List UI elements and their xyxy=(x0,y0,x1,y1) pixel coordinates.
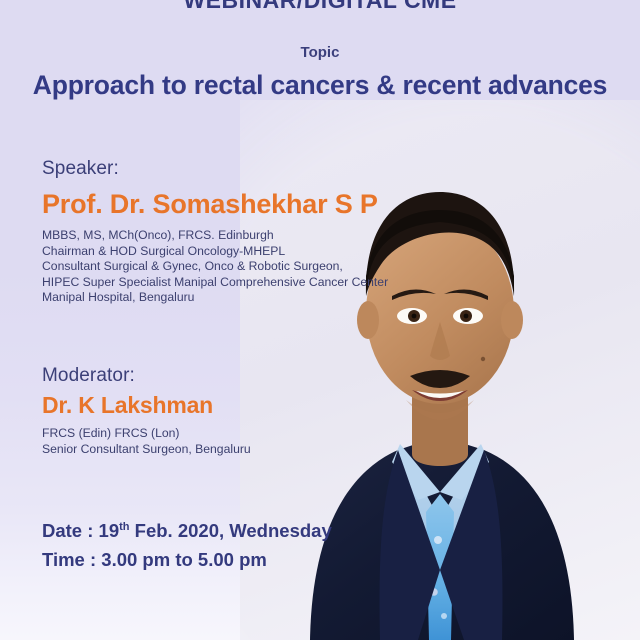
date-suffix: Feb. 2020, Wednesday xyxy=(130,520,332,541)
credential-line: MBBS, MS, MCh(Onco), FRCS. Edinburgh xyxy=(42,228,388,244)
date-ordinal-suffix: th xyxy=(119,521,129,533)
speaker-role-label: Speaker: xyxy=(42,158,388,180)
credential-line: Manipal Hospital, Bengaluru xyxy=(42,290,388,306)
event-date: Date : 19th Feb. 2020, Wednesday xyxy=(42,520,332,542)
credential-line: Senior Consultant Surgeon, Bengaluru xyxy=(42,442,251,458)
speaker-name: Prof. Dr. Somashekhar S P xyxy=(42,189,388,220)
banner-title: WEBINAR/DIGITAL CME xyxy=(0,0,640,12)
credential-line: Consultant Surgical & Gynec, Onco & Robo… xyxy=(42,259,388,275)
speaker-block: Speaker: Prof. Dr. Somashekhar S P MBBS,… xyxy=(42,158,388,306)
moderator-name: Dr. K Lakshman xyxy=(42,392,251,419)
date-prefix: Date : 19 xyxy=(42,520,119,541)
speaker-credentials: MBBS, MS, MCh(Onco), FRCS. Edinburgh Cha… xyxy=(42,228,388,306)
event-time: Time : 3.00 pm to 5.00 pm xyxy=(42,549,267,571)
moderator-role-label: Moderator: xyxy=(42,365,251,387)
moderator-block: Moderator: Dr. K Lakshman FRCS (Edin) FR… xyxy=(42,365,251,457)
topic-label: Topic xyxy=(0,44,640,61)
credential-line: Chairman & HOD Surgical Oncology-MHEPL xyxy=(42,244,388,260)
credential-line: HIPEC Super Specialist Manipal Comprehen… xyxy=(42,275,388,291)
moderator-credentials: FRCS (Edin) FRCS (Lon) Senior Consultant… xyxy=(42,426,251,457)
credential-line: FRCS (Edin) FRCS (Lon) xyxy=(42,426,251,442)
topic-title: Approach to rectal cancers & recent adva… xyxy=(0,70,640,101)
webinar-poster: WEBINAR/DIGITAL CME Topic Approach to re… xyxy=(0,0,640,640)
